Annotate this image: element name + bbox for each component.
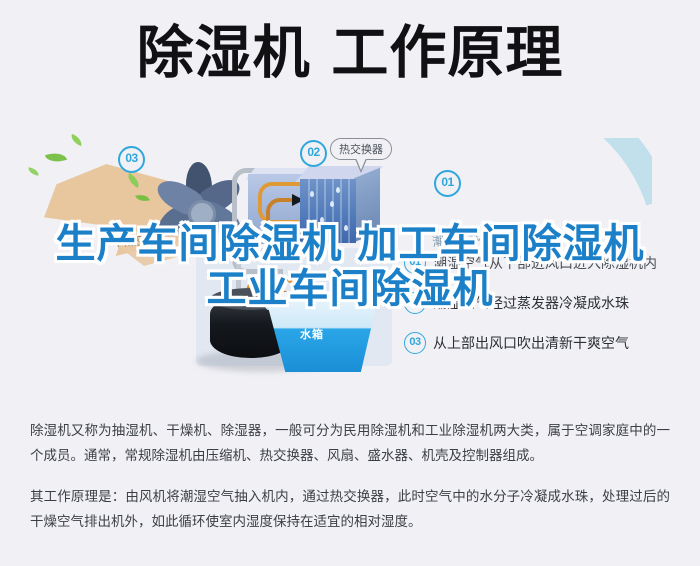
description-paragraph-2: 其工作原理是：由风机将潮湿空气抽入机内，通过热交换器，此时空气中的水分子冷凝成水… — [30, 484, 670, 534]
heat-exchanger-callout: 热交换器 — [330, 138, 392, 160]
legend-label: 潮湿空气经过蒸发器冷凝成水珠 — [433, 293, 629, 313]
leaf-icon — [69, 134, 84, 146]
legend-item: 03 从上部出风口吹出清新干爽空气 — [404, 332, 694, 354]
heat-exchanger-side — [354, 168, 380, 243]
diagram-badge-02: 02 — [300, 140, 327, 167]
legend-item: 01 潮湿空气从下部进风口进入除湿机内 — [404, 252, 694, 274]
page-title: 除湿机 工作原理 — [137, 22, 564, 84]
title-bar: 除湿机 工作原理 — [0, 22, 700, 84]
description-paragraph-1: 除湿机又称为抽湿机、干燥机、除湿器，一般可分为民用除湿机和工业除湿机两大类，属于… — [30, 418, 670, 468]
legend-item: 02 潮湿空气经过蒸发器冷凝成水珠 — [404, 292, 694, 314]
leaf-icon — [45, 149, 67, 166]
diagram-badge-01: 01 — [434, 170, 461, 197]
description-block: 除湿机又称为抽湿机、干燥机、除湿器，一般可分为民用除湿机和工业除湿机两大类，属于… — [30, 418, 670, 550]
heat-exchanger-face — [300, 179, 356, 243]
diagram-badge-03: 03 — [118, 146, 145, 173]
leaf-icon — [28, 167, 40, 175]
heat-exchanger-block — [300, 166, 384, 244]
legend-label: 潮湿空气从下部进风口进入除湿机内 — [433, 253, 657, 273]
legend-list: 01 潮湿空气从下部进风口进入除湿机内 02 潮湿空气经过蒸发器冷凝成水珠 03… — [404, 252, 694, 372]
dry-air-label: 干燥空气 — [111, 230, 160, 250]
legend-number: 02 — [404, 292, 426, 314]
legend-number: 03 — [404, 332, 426, 354]
water-tank-label: 水箱 — [300, 326, 324, 342]
page-root: 除湿机 工作原理 — [0, 0, 700, 566]
fan-hub — [188, 200, 216, 228]
legend-number: 01 — [404, 252, 426, 274]
legend-label: 从上部出风口吹出清新干爽空气 — [433, 333, 629, 353]
